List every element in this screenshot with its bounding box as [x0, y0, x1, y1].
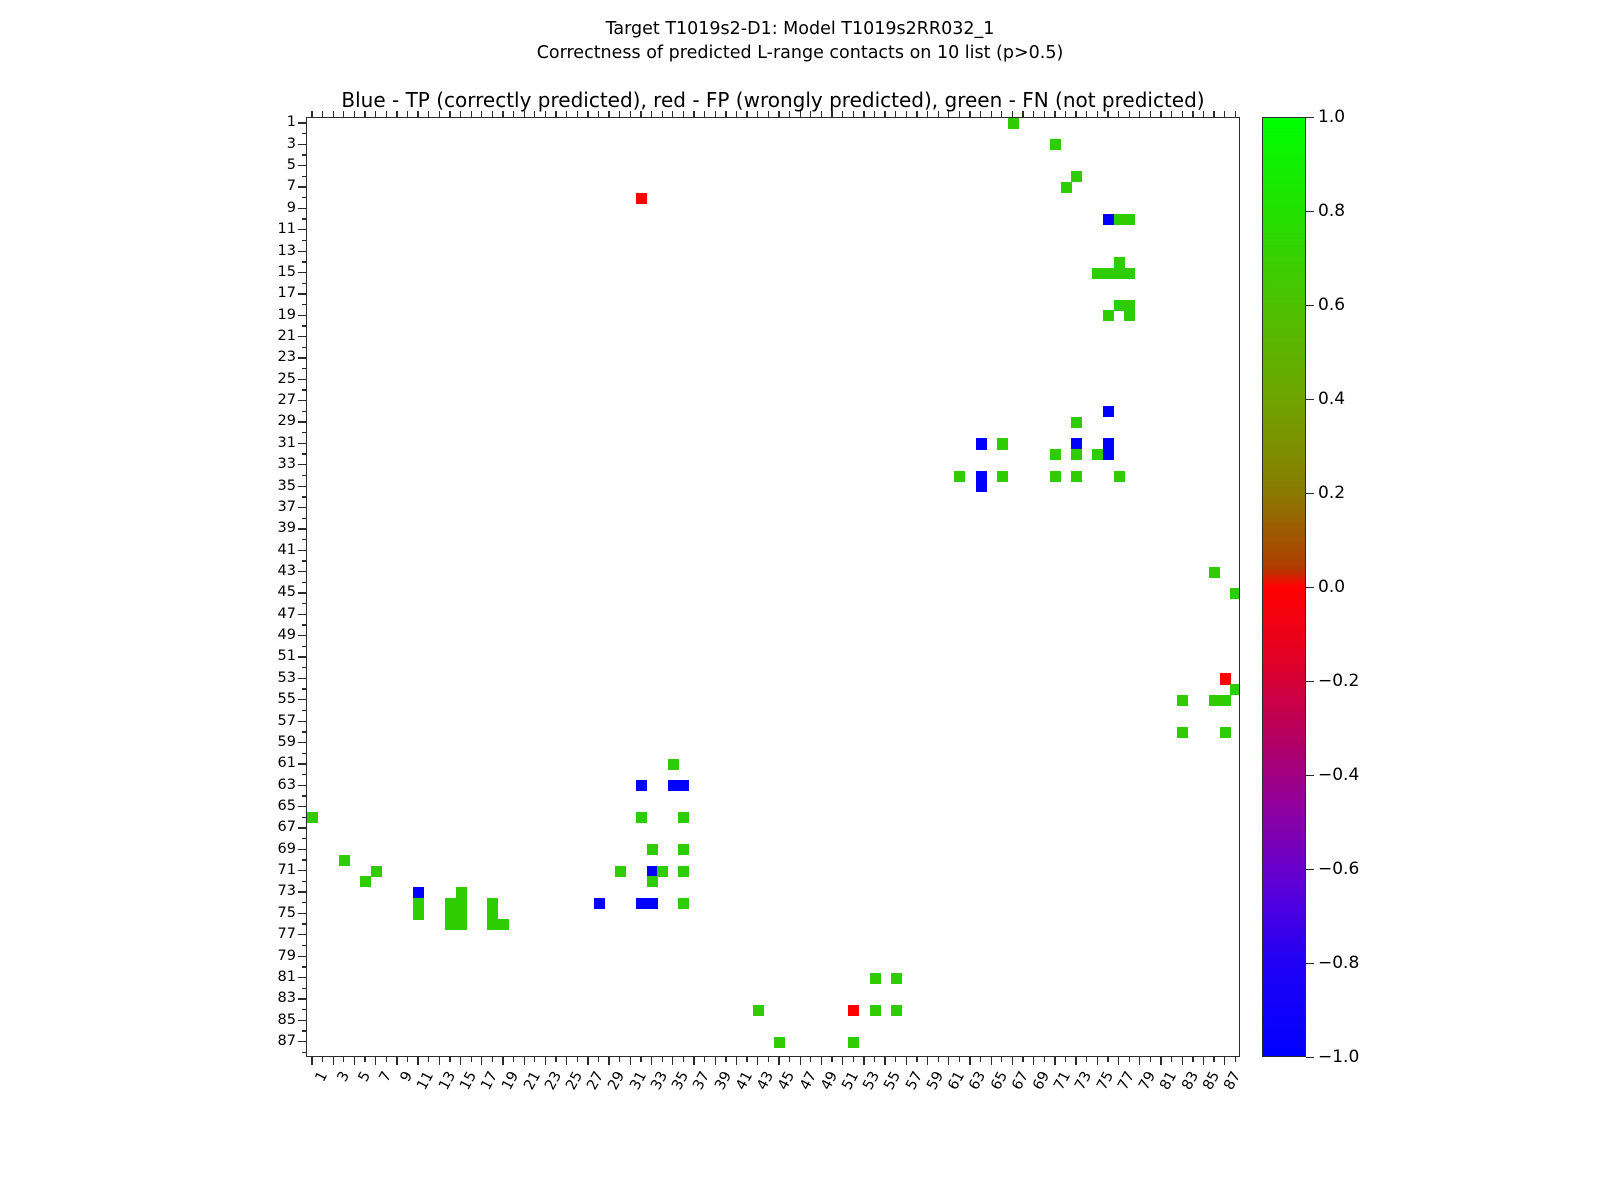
- y-axis-tick: [298, 656, 306, 657]
- x-axis-tick: [566, 1057, 567, 1065]
- x-axis-top-tick: [555, 111, 556, 117]
- x-axis-tick: [545, 1057, 546, 1065]
- y-axis-tick: [302, 902, 307, 903]
- y-axis-label: 87: [232, 1033, 296, 1049]
- contact-cell: [487, 908, 498, 919]
- x-axis-tick: [725, 1057, 726, 1062]
- y-axis-label: 31: [232, 435, 296, 451]
- colorbar-tick-label: 0.0: [1318, 577, 1345, 597]
- x-axis-tick: [428, 1057, 429, 1062]
- x-axis-tick: [662, 1057, 663, 1062]
- x-axis-tick: [311, 1057, 312, 1065]
- x-axis-top-tick: [842, 111, 843, 117]
- y-axis-label: 63: [232, 777, 296, 793]
- x-axis-top-tick: [874, 111, 875, 117]
- x-axis-top-tick: [513, 111, 514, 117]
- x-axis-tick: [810, 1057, 811, 1062]
- contact-cell: [678, 844, 689, 855]
- colorbar-tick-label: 0.8: [1318, 201, 1345, 221]
- contact-cell: [891, 1005, 902, 1016]
- y-axis-label: 61: [232, 755, 296, 771]
- x-axis-top-tick: [715, 111, 716, 117]
- x-axis-tick: [534, 1057, 535, 1062]
- x-axis-tick: [1012, 1057, 1013, 1065]
- x-axis-top-tick: [1182, 111, 1183, 117]
- x-axis-tick: [1044, 1057, 1045, 1062]
- x-axis-top-tick: [800, 111, 801, 117]
- x-axis-tick: [704, 1057, 705, 1062]
- y-axis-tick: [302, 624, 307, 625]
- y-axis-tick: [298, 293, 306, 294]
- x-axis-tick: [916, 1057, 917, 1062]
- x-axis-top-tick: [1160, 111, 1161, 117]
- x-axis-tick: [1075, 1057, 1076, 1065]
- contact-cell: [1071, 438, 1082, 449]
- y-axis-tick: [302, 154, 307, 155]
- contact-cell: [1114, 214, 1125, 225]
- contact-cell: [413, 898, 424, 909]
- x-axis-top-tick: [322, 111, 323, 117]
- y-axis-tick: [302, 603, 307, 604]
- x-axis-top-tick: [1150, 111, 1151, 117]
- contact-cell: [1124, 214, 1135, 225]
- x-axis-top-tick: [980, 111, 981, 117]
- y-axis-tick: [298, 122, 306, 123]
- x-axis-top-tick: [471, 111, 472, 117]
- x-axis-top-tick: [884, 111, 885, 117]
- x-axis-tick: [1213, 1057, 1214, 1062]
- y-axis-tick: [302, 347, 307, 348]
- x-axis-top-tick: [948, 111, 949, 117]
- y-axis-tick: [302, 176, 307, 177]
- y-axis-tick: [302, 988, 307, 989]
- y-axis-tick: [302, 1009, 307, 1010]
- y-axis-tick: [298, 251, 306, 252]
- y-axis-tick: [298, 144, 306, 145]
- x-axis-top-tick: [640, 111, 641, 117]
- contact-cell: [678, 898, 689, 909]
- colorbar-tick-label: −0.6: [1318, 859, 1359, 879]
- x-axis-tick: [895, 1057, 896, 1062]
- y-axis-tick: [302, 1052, 307, 1053]
- y-axis-tick: [302, 518, 307, 519]
- x-axis-tick: [874, 1057, 875, 1062]
- y-axis-tick: [298, 208, 306, 209]
- y-axis-tick: [298, 165, 306, 166]
- contact-cell-layer: [307, 118, 1239, 1056]
- contact-cell: [1071, 417, 1082, 428]
- y-axis-label: 71: [232, 862, 296, 878]
- contact-cell: [1114, 268, 1125, 279]
- x-axis-top-tick: [449, 111, 450, 117]
- y-axis-tick: [298, 592, 306, 593]
- x-axis-tick: [789, 1057, 790, 1062]
- colorbar-tick: [1306, 211, 1314, 212]
- x-axis-tick: [513, 1057, 514, 1062]
- y-axis-tick: [298, 336, 306, 337]
- figure-title: Target T1019s2-D1: Model T1019s2RR032_1 …: [0, 18, 1600, 65]
- y-axis-tick: [298, 421, 306, 422]
- x-axis-top-tick: [396, 111, 397, 117]
- y-axis-tick: [302, 881, 307, 882]
- contact-cell: [647, 876, 658, 887]
- y-axis-label: 59: [232, 734, 296, 750]
- y-axis-tick: [302, 795, 307, 796]
- y-axis-tick: [298, 806, 306, 807]
- x-axis-top-tick: [1022, 111, 1023, 117]
- x-axis-top-tick: [683, 111, 684, 117]
- colorbar-tick: [1306, 305, 1314, 306]
- x-axis-tick: [948, 1057, 949, 1065]
- x-axis-top-tick: [364, 111, 365, 117]
- x-axis-tick: [1129, 1057, 1130, 1062]
- contact-cell: [774, 1037, 785, 1048]
- x-axis-top-tick: [492, 111, 493, 117]
- x-axis-top-tick: [1192, 111, 1193, 117]
- contact-cell: [413, 887, 424, 898]
- y-axis-tick: [298, 229, 306, 230]
- y-axis-tick: [302, 496, 307, 497]
- x-axis-tick: [1171, 1057, 1172, 1062]
- x-axis-top-tick: [1107, 111, 1108, 117]
- y-axis-label: 5: [232, 157, 296, 173]
- x-axis-top-tick: [354, 111, 355, 117]
- contact-cell: [997, 471, 1008, 482]
- contact-cell: [487, 898, 498, 909]
- x-axis-top-tick: [672, 111, 673, 117]
- y-axis-tick: [302, 710, 307, 711]
- y-axis-tick: [298, 977, 306, 978]
- x-axis-tick: [1097, 1057, 1098, 1065]
- contact-cell: [647, 844, 658, 855]
- x-axis-tick: [1224, 1057, 1225, 1065]
- x-axis-top-tick: [1086, 111, 1087, 117]
- x-axis-top-tick: [1213, 111, 1214, 117]
- x-axis-tick: [322, 1057, 323, 1062]
- y-axis-tick: [302, 966, 307, 967]
- contact-cell: [997, 438, 1008, 449]
- x-axis-tick: [640, 1057, 641, 1062]
- x-axis-top-tick: [577, 111, 578, 117]
- contact-cell: [848, 1037, 859, 1048]
- x-axis-top-tick: [311, 111, 312, 117]
- y-axis-label: 3: [232, 136, 296, 152]
- y-axis-tick: [298, 913, 306, 914]
- x-axis-top-tick: [768, 111, 769, 117]
- y-axis-tick: [302, 133, 307, 134]
- x-axis-top-tick: [821, 111, 822, 117]
- contact-cell: [1220, 695, 1231, 706]
- y-axis-tick: [298, 849, 306, 850]
- y-axis-tick: [298, 464, 306, 465]
- x-axis-top-tick: [991, 111, 992, 117]
- colorbar-tick: [1306, 587, 1314, 588]
- contact-cell: [668, 759, 679, 770]
- x-axis-top-tick: [1118, 111, 1119, 117]
- y-axis-tick: [298, 571, 306, 572]
- title-line-1: Target T1019s2-D1: Model T1019s2RR032_1: [0, 18, 1600, 42]
- x-axis-top-tick: [810, 111, 811, 117]
- colorbar-tick-label: −1.0: [1318, 1047, 1359, 1067]
- x-axis-tick: [853, 1057, 854, 1062]
- y-axis-tick: [298, 357, 306, 358]
- y-axis-tick: [298, 443, 306, 444]
- x-axis-top-tick: [927, 111, 928, 117]
- x-axis-tick: [1118, 1057, 1119, 1065]
- x-axis-top-tick: [386, 111, 387, 117]
- axes-legend-title: Blue - TP (correctly predicted), red - F…: [306, 88, 1240, 112]
- colorbar[interactable]: 1.00.80.60.40.20.0−0.2−0.4−0.6−0.8−1.0: [1262, 117, 1306, 1057]
- x-axis-top-tick: [906, 111, 907, 117]
- colorbar-tick-label: −0.2: [1318, 671, 1359, 691]
- y-axis-tick: [302, 859, 307, 860]
- y-axis-tick: [298, 998, 306, 999]
- colorbar-tick-label: −0.8: [1318, 953, 1359, 973]
- y-axis-label: 49: [232, 627, 296, 643]
- x-axis-top-tick: [608, 111, 609, 117]
- x-axis-top-tick: [757, 111, 758, 117]
- contact-cell: [339, 855, 350, 866]
- y-axis-label: 45: [232, 584, 296, 600]
- contact-cell: [1103, 406, 1114, 417]
- x-axis-top-tick: [1033, 111, 1034, 117]
- x-axis-tick: [1139, 1057, 1140, 1065]
- x-axis-top-tick: [916, 111, 917, 117]
- x-axis-top-tick: [969, 111, 970, 117]
- y-axis-tick: [298, 528, 306, 529]
- y-axis-label: 27: [232, 392, 296, 408]
- contact-cell: [636, 780, 647, 791]
- y-axis-label: 85: [232, 1012, 296, 1028]
- colorbar-gradient: [1262, 117, 1306, 1057]
- x-axis-top-tick: [662, 111, 663, 117]
- colorbar-tick: [1306, 775, 1314, 776]
- contact-cell: [1230, 684, 1239, 695]
- contact-cell: [360, 876, 371, 887]
- y-axis-tick: [298, 272, 306, 273]
- x-axis-tick: [1107, 1057, 1108, 1062]
- contact-cell: [445, 919, 456, 930]
- y-axis-label: 79: [232, 948, 296, 964]
- y-axis-label: 67: [232, 819, 296, 835]
- contact-cell: [647, 866, 658, 877]
- y-axis-label: 41: [232, 542, 296, 558]
- y-axis-tick: [302, 325, 307, 326]
- colorbar-tick-label: −0.4: [1318, 765, 1359, 785]
- x-axis-top-tick: [439, 111, 440, 117]
- x-axis-top-tick: [502, 111, 503, 117]
- y-axis-label: 33: [232, 456, 296, 472]
- contact-map-figure: Target T1019s2-D1: Model T1019s2RR032_1 …: [0, 0, 1600, 1200]
- y-axis-tick: [302, 240, 307, 241]
- y-axis-label: 19: [232, 307, 296, 323]
- y-axis-tick: [298, 699, 306, 700]
- contact-cell: [1124, 310, 1135, 321]
- colorbar-tick-label: 0.6: [1318, 295, 1345, 315]
- y-axis-label: 13: [232, 243, 296, 259]
- x-axis-tick: [863, 1057, 864, 1065]
- x-axis-tick: [492, 1057, 493, 1062]
- x-axis-tick: [842, 1057, 843, 1065]
- y-axis-label: 11: [232, 221, 296, 237]
- x-axis-tick: [778, 1057, 779, 1065]
- x-axis-top-tick: [481, 111, 482, 117]
- x-axis-tick: [439, 1057, 440, 1065]
- contact-cell: [636, 812, 647, 823]
- x-axis-tick: [1235, 1057, 1236, 1062]
- y-axis-label: 51: [232, 648, 296, 664]
- y-axis-tick: [298, 678, 306, 679]
- x-axis-tick: [746, 1057, 747, 1062]
- x-axis-tick: [407, 1057, 408, 1062]
- contact-cell: [678, 866, 689, 877]
- x-axis-tick: [831, 1057, 832, 1062]
- x-axis-tick: [959, 1057, 960, 1062]
- contact-cell: [615, 866, 626, 877]
- x-axis-top-tick: [630, 111, 631, 117]
- contact-cell: [307, 812, 318, 823]
- x-axis-tick: [1086, 1057, 1087, 1062]
- contact-cell: [456, 908, 467, 919]
- x-axis-top-tick: [831, 111, 832, 117]
- colorbar-tick: [1306, 117, 1314, 118]
- contact-map-plot-area[interactable]: [306, 117, 1240, 1057]
- x-axis-top-tick: [1054, 111, 1055, 117]
- contact-cell: [678, 812, 689, 823]
- x-axis-tick: [608, 1057, 609, 1065]
- x-axis-tick: [333, 1057, 334, 1065]
- x-axis-tick: [354, 1057, 355, 1065]
- x-axis-tick: [449, 1057, 450, 1062]
- x-axis-tick: [715, 1057, 716, 1065]
- x-axis-top-tick: [704, 111, 705, 117]
- contact-cell: [594, 898, 605, 909]
- contact-cell: [1092, 449, 1103, 460]
- y-axis-tick: [302, 218, 307, 219]
- contact-cell: [1050, 471, 1061, 482]
- x-axis-top-tick: [534, 111, 535, 117]
- y-axis-label: 21: [232, 328, 296, 344]
- contact-cell: [636, 898, 647, 909]
- x-axis-top-tick: [853, 111, 854, 117]
- x-axis-top-tick: [1235, 111, 1236, 117]
- x-axis-tick: [481, 1057, 482, 1065]
- y-axis-tick: [302, 411, 307, 412]
- x-axis-top-tick: [428, 111, 429, 117]
- x-axis-tick: [672, 1057, 673, 1065]
- y-axis-tick: [298, 721, 306, 722]
- y-axis-label: 53: [232, 670, 296, 686]
- x-axis-tick: [577, 1057, 578, 1062]
- y-axis-tick: [302, 261, 307, 262]
- y-axis-tick: [302, 453, 307, 454]
- y-axis-tick: [298, 614, 306, 615]
- y-axis-tick: [302, 1030, 307, 1031]
- colorbar-tick-label: 0.2: [1318, 483, 1345, 503]
- y-axis-label: 81: [232, 969, 296, 985]
- contact-cell: [848, 1005, 859, 1016]
- contact-cell: [976, 471, 987, 482]
- x-axis-tick: [343, 1057, 344, 1062]
- y-axis-tick: [298, 934, 306, 935]
- contact-cell: [487, 919, 498, 930]
- contact-cell: [678, 780, 689, 791]
- contact-cell: [1230, 588, 1239, 599]
- y-axis-tick: [298, 507, 306, 508]
- x-axis-top-tick: [1097, 111, 1098, 117]
- contact-cell: [954, 471, 965, 482]
- x-axis-tick: [364, 1057, 365, 1062]
- x-axis-tick: [1033, 1057, 1034, 1065]
- contact-cell: [1050, 449, 1061, 460]
- y-axis-label: 55: [232, 691, 296, 707]
- x-axis-tick: [1065, 1057, 1066, 1062]
- contact-cell: [1103, 449, 1114, 460]
- x-axis-tick: [1022, 1057, 1023, 1062]
- colorbar-tick: [1306, 963, 1314, 964]
- contact-cell: [1092, 268, 1103, 279]
- contact-cell: [1124, 268, 1135, 279]
- y-axis-label: 75: [232, 905, 296, 921]
- x-axis-tick: [1001, 1057, 1002, 1062]
- contact-cell: [976, 438, 987, 449]
- x-axis-tick: [980, 1057, 981, 1062]
- x-axis-tick: [991, 1057, 992, 1065]
- contact-cell: [1177, 727, 1188, 738]
- x-axis-tick: [693, 1057, 694, 1065]
- y-axis-tick: [302, 197, 307, 198]
- x-axis-tick: [502, 1057, 503, 1065]
- x-axis-top-tick: [863, 111, 864, 117]
- y-axis-label: 23: [232, 349, 296, 365]
- x-axis-tick: [651, 1057, 652, 1065]
- contact-cell: [1124, 300, 1135, 311]
- x-axis-tick: [1192, 1057, 1193, 1062]
- y-axis-label: 25: [232, 371, 296, 387]
- x-axis-tick: [1160, 1057, 1161, 1065]
- y-axis-tick: [298, 486, 306, 487]
- contact-cell: [1114, 471, 1125, 482]
- colorbar-tick: [1306, 493, 1314, 494]
- x-axis-top-tick: [333, 111, 334, 117]
- y-axis-tick: [302, 753, 307, 754]
- contact-cell: [1103, 214, 1114, 225]
- colorbar-tick: [1306, 399, 1314, 400]
- x-axis-top-tick: [619, 111, 620, 117]
- x-axis-top-tick: [417, 111, 418, 117]
- colorbar-tick: [1306, 681, 1314, 682]
- contact-cell: [1008, 118, 1019, 129]
- x-axis-tick: [969, 1057, 970, 1065]
- x-axis-tick: [386, 1057, 387, 1062]
- contact-cell: [1220, 727, 1231, 738]
- x-axis-top-tick: [693, 111, 694, 117]
- y-axis-label: 83: [232, 990, 296, 1006]
- contact-cell: [1103, 438, 1114, 449]
- contact-cell: [636, 193, 647, 204]
- x-axis-tick: [800, 1057, 801, 1065]
- x-axis-tick: [598, 1057, 599, 1062]
- y-axis-label: 65: [232, 798, 296, 814]
- contact-cell: [1177, 695, 1188, 706]
- y-axis-tick: [302, 582, 307, 583]
- x-axis-tick: [736, 1057, 737, 1065]
- y-axis-tick: [298, 956, 306, 957]
- contact-cell: [1071, 471, 1082, 482]
- x-axis-tick: [884, 1057, 885, 1065]
- y-axis-tick: [302, 283, 307, 284]
- x-axis-top-tick: [375, 111, 376, 117]
